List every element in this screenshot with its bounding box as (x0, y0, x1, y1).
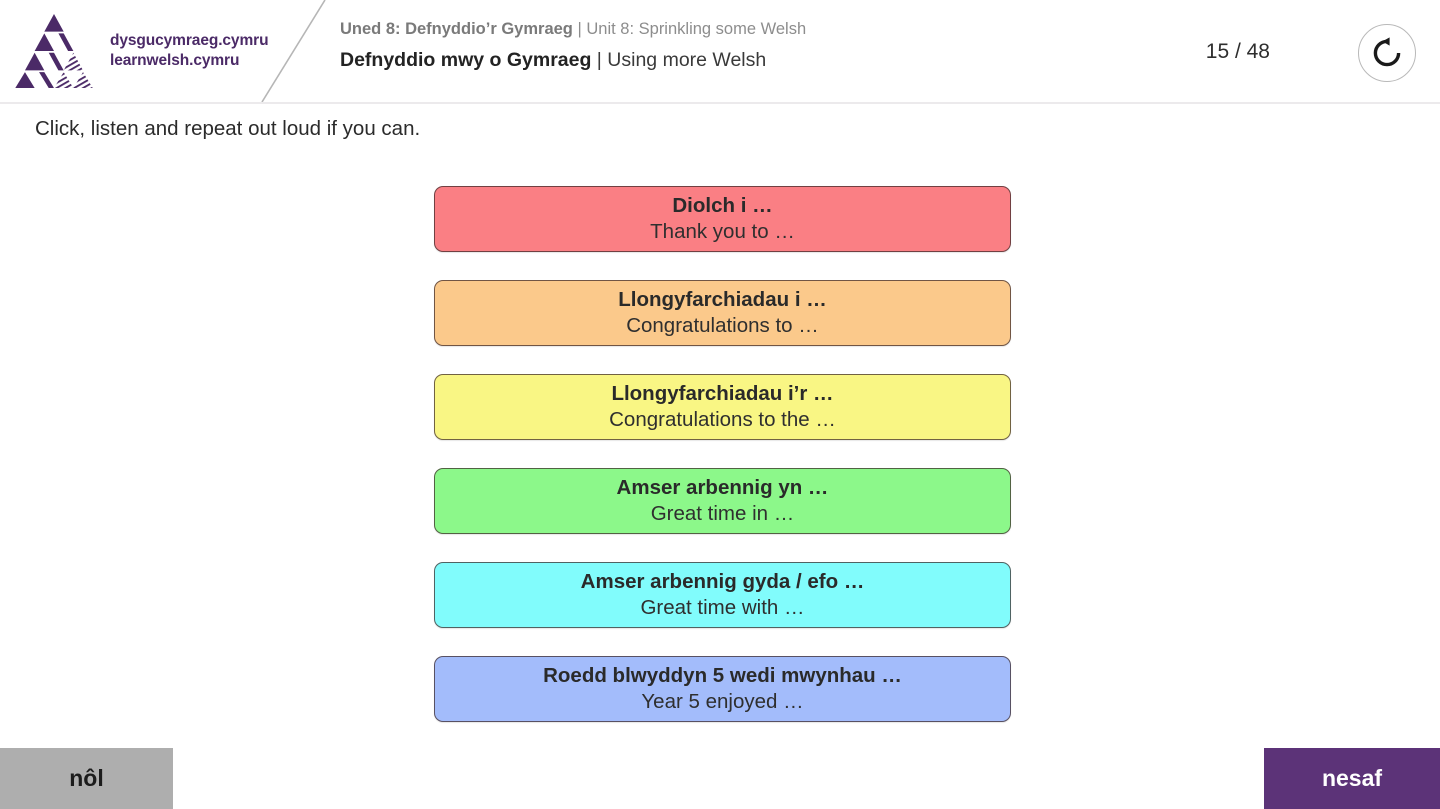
phrase-card[interactable]: Roedd blwyddyn 5 wedi mwynhau … Year 5 e… (434, 656, 1011, 722)
unit-title-welsh: Uned 8: Defnyddio’r Gymraeg (340, 20, 573, 38)
phrase-english: Congratulations to … (626, 313, 819, 339)
page-header: dysgucymraeg.cymru learnwelsh.cymru Uned… (0, 0, 1440, 104)
phrase-english: Great time with … (640, 595, 804, 621)
refresh-circle-icon (1370, 36, 1404, 70)
back-button[interactable]: nôl (0, 748, 173, 809)
next-button-label: nesaf (1322, 765, 1382, 792)
phrase-welsh: Llongyfarchiadau i’r … (611, 381, 833, 407)
next-button[interactable]: nesaf (1264, 748, 1440, 809)
unit-title: Uned 8: Defnyddio’r Gymraeg | Unit 8: Sp… (340, 18, 1160, 42)
phrase-welsh: Amser arbennig gyda / efo … (581, 569, 865, 595)
phrase-welsh: Roedd blwyddyn 5 wedi mwynhau … (543, 663, 902, 689)
page-counter: 15 / 48 (1206, 40, 1270, 64)
unit-title-separator: | (573, 20, 586, 38)
phrase-english: Great time in … (651, 501, 795, 527)
lesson-title-english: Using more Welsh (607, 49, 766, 71)
back-button-label: nôl (69, 765, 104, 792)
phrase-english: Year 5 enjoyed … (641, 689, 803, 715)
phrase-english: Thank you to … (650, 219, 795, 245)
brand-line-welsh: dysgucymraeg.cymru (110, 31, 268, 51)
phrase-welsh: Diolch i … (672, 193, 772, 219)
header-titles: Uned 8: Defnyddio’r Gymraeg | Unit 8: Sp… (340, 18, 1160, 75)
lesson-title: Defnyddio mwy o Gymraeg | Using more Wel… (340, 46, 1160, 75)
phrase-welsh: Llongyfarchiadau i … (618, 287, 826, 313)
instruction-text: Click, listen and repeat out loud if you… (35, 117, 420, 141)
lesson-title-separator: | (591, 49, 607, 71)
unit-title-english: Unit 8: Sprinkling some Welsh (586, 20, 806, 38)
brand-logo-block: dysgucymraeg.cymru learnwelsh.cymru (0, 0, 300, 102)
phrase-card[interactable]: Amser arbennig gyda / efo … Great time w… (434, 562, 1011, 628)
lesson-title-welsh: Defnyddio mwy o Gymraeg (340, 49, 591, 71)
phrase-english: Congratulations to the … (609, 407, 836, 433)
replay-button[interactable] (1358, 24, 1416, 82)
phrase-card-list: Diolch i … Thank you to … Llongyfarchiad… (434, 186, 1011, 722)
brand-line-english: learnwelsh.cymru (110, 51, 268, 71)
phrase-welsh: Amser arbennig yn … (617, 475, 829, 501)
phrase-card[interactable]: Llongyfarchiadau i … Congratulations to … (434, 280, 1011, 346)
phrase-card[interactable]: Diolch i … Thank you to … (434, 186, 1011, 252)
phrase-card[interactable]: Llongyfarchiadau i’r … Congratulations t… (434, 374, 1011, 440)
triangle-logo-icon (10, 12, 98, 90)
brand-text: dysgucymraeg.cymru learnwelsh.cymru (110, 31, 268, 71)
phrase-card[interactable]: Amser arbennig yn … Great time in … (434, 468, 1011, 534)
